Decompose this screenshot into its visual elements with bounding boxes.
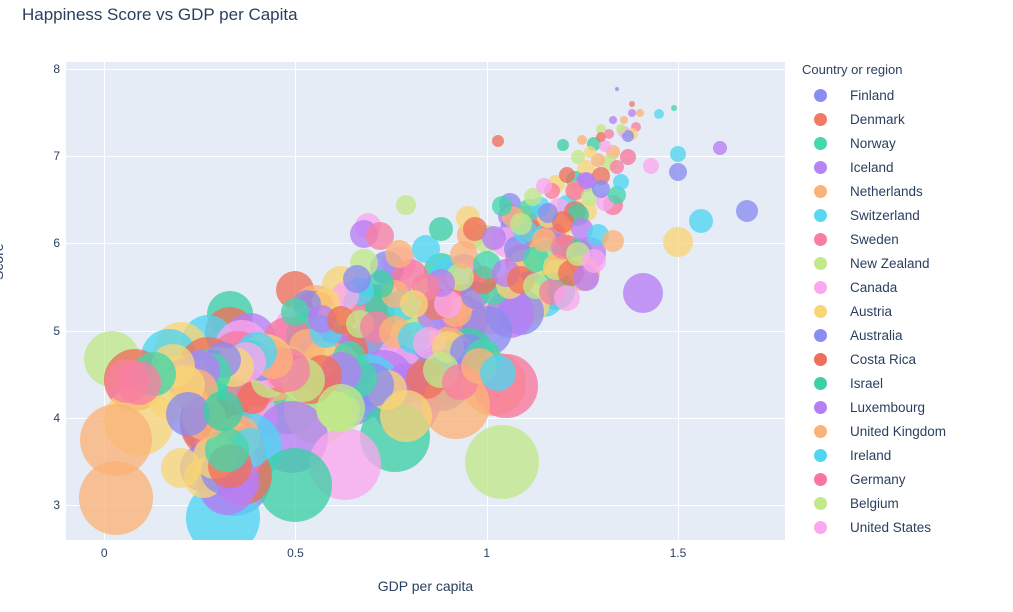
y-tick-label: 6 xyxy=(10,236,60,250)
legend-item-new-zealand[interactable]: New Zealand xyxy=(800,251,1010,275)
legend-swatch-icon xyxy=(814,377,827,390)
legend-item-label: Germany xyxy=(850,472,906,487)
legend-swatch-icon xyxy=(814,209,827,222)
scatter-point[interactable] xyxy=(689,209,713,233)
legend-item-label: United Kingdom xyxy=(850,424,946,439)
legend-item-iceland[interactable]: Iceland xyxy=(800,155,1010,179)
legend-item-luxembourg[interactable]: Luxembourg xyxy=(800,395,1010,419)
scatter-point[interactable] xyxy=(538,203,558,223)
legend-item-finland[interactable]: Finland xyxy=(800,83,1010,107)
y-tick-label: 5 xyxy=(10,324,60,338)
legend-swatch-icon xyxy=(814,233,827,246)
scatter-point[interactable] xyxy=(429,217,453,241)
legend-item-israel[interactable]: Israel xyxy=(800,371,1010,395)
legend-item-label: New Zealand xyxy=(850,256,930,271)
legend-item-switzerland[interactable]: Switzerland xyxy=(800,203,1010,227)
legend-item-united-kingdom[interactable]: United Kingdom xyxy=(800,419,1010,443)
scatter-point[interactable] xyxy=(79,461,153,535)
scatter-point[interactable] xyxy=(629,101,635,107)
legend-item-label: Ireland xyxy=(850,448,891,463)
scatter-point[interactable] xyxy=(654,109,664,119)
scatter-point[interactable] xyxy=(380,390,432,442)
scatter-point[interactable] xyxy=(536,178,552,194)
scatter-point[interactable] xyxy=(609,116,617,124)
scatter-point[interactable] xyxy=(584,146,596,158)
y-tick-label: 4 xyxy=(10,411,60,425)
scatter-point[interactable] xyxy=(554,285,580,311)
scatter-point[interactable] xyxy=(492,135,504,147)
x-axis-title: GDP per capita xyxy=(66,578,785,594)
scatter-point[interactable] xyxy=(480,355,516,391)
y-tick-label: 7 xyxy=(10,149,60,163)
legend-item-label: Netherlands xyxy=(850,184,923,199)
legend-item-label: Iceland xyxy=(850,160,894,175)
plot-area[interactable] xyxy=(66,62,785,540)
scatter-point[interactable] xyxy=(604,129,614,139)
legend-item-label: Canada xyxy=(850,280,897,295)
scatter-point[interactable] xyxy=(577,135,587,145)
legend-item-belgium[interactable]: Belgium xyxy=(800,491,1010,515)
legend-swatch-icon xyxy=(814,425,827,438)
scatter-point[interactable] xyxy=(343,265,371,293)
gridline-vertical xyxy=(678,62,679,540)
scatter-point[interactable] xyxy=(623,273,663,313)
legend-swatch-icon xyxy=(814,113,827,126)
legend-item-label: Israel xyxy=(850,376,883,391)
scatter-point[interactable] xyxy=(105,359,149,403)
chart-root: Happiness Score vs GDP per Capita 345678… xyxy=(0,0,1013,612)
scatter-point[interactable] xyxy=(713,141,727,155)
legend-item-label: Costa Rica xyxy=(850,352,916,367)
legend[interactable]: Country or region FinlandDenmarkNorwayIc… xyxy=(800,62,1010,539)
scatter-point[interactable] xyxy=(465,425,539,499)
scatter-point[interactable] xyxy=(400,290,428,318)
legend-swatch-icon xyxy=(814,305,827,318)
legend-swatch-icon xyxy=(814,89,827,102)
legend-swatch-icon xyxy=(814,137,827,150)
legend-swatch-icon xyxy=(814,497,827,510)
scatter-point[interactable] xyxy=(620,116,628,124)
x-tick-label: 0 xyxy=(74,546,134,560)
scatter-point[interactable] xyxy=(636,109,644,117)
legend-swatch-icon xyxy=(814,353,827,366)
legend-item-label: Austria xyxy=(850,304,892,319)
page-title: Happiness Score vs GDP per Capita xyxy=(22,5,298,25)
scatter-point[interactable] xyxy=(643,158,659,174)
x-tick-label: 1 xyxy=(457,546,517,560)
x-axis-ticks: 00.511.5 xyxy=(66,546,785,566)
legend-item-label: Norway xyxy=(850,136,896,151)
scatter-point[interactable] xyxy=(396,195,416,215)
scatter-point[interactable] xyxy=(559,167,575,183)
scatter-point[interactable] xyxy=(602,230,624,252)
scatter-point[interactable] xyxy=(281,298,309,326)
legend-swatch-icon xyxy=(814,329,827,342)
scatter-point[interactable] xyxy=(663,227,693,257)
legend-swatch-icon xyxy=(814,281,827,294)
scatter-point[interactable] xyxy=(736,200,758,222)
scatter-point[interactable] xyxy=(203,391,243,431)
legend-item-germany[interactable]: Germany xyxy=(800,467,1010,491)
legend-item-norway[interactable]: Norway xyxy=(800,131,1010,155)
scatter-point[interactable] xyxy=(557,139,569,151)
legend-swatch-icon xyxy=(814,401,827,414)
legend-item-canada[interactable]: Canada xyxy=(800,275,1010,299)
scatter-point[interactable] xyxy=(582,249,606,273)
y-axis-title: Score xyxy=(0,243,6,280)
legend-item-austria[interactable]: Austria xyxy=(800,299,1010,323)
scatter-point[interactable] xyxy=(510,213,532,235)
scatter-point[interactable] xyxy=(671,105,677,111)
y-tick-label: 8 xyxy=(10,62,60,76)
scatter-point[interactable] xyxy=(317,384,365,432)
legend-swatch-icon xyxy=(814,257,827,270)
legend-item-costa-rica[interactable]: Costa Rica xyxy=(800,347,1010,371)
scatter-point[interactable] xyxy=(385,240,413,268)
legend-item-denmark[interactable]: Denmark xyxy=(800,107,1010,131)
legend-item-label: Belgium xyxy=(850,496,899,511)
legend-swatch-icon xyxy=(814,473,827,486)
x-tick-label: 1.5 xyxy=(648,546,708,560)
legend-item-australia[interactable]: Australia xyxy=(800,323,1010,347)
scatter-point[interactable] xyxy=(482,226,506,250)
legend-item-label: Sweden xyxy=(850,232,899,247)
scatter-point[interactable] xyxy=(161,448,201,488)
legend-item-united-states[interactable]: United States xyxy=(800,515,1010,539)
scatter-point[interactable] xyxy=(610,160,624,174)
scatter-point[interactable] xyxy=(613,174,629,190)
scatter-point[interactable] xyxy=(492,196,512,216)
y-axis-ticks: 345678 xyxy=(0,62,60,540)
legend-item-label: Luxembourg xyxy=(850,400,925,415)
x-tick-label: 0.5 xyxy=(265,546,325,560)
y-tick-label: 3 xyxy=(10,498,60,512)
legend-item-label: United States xyxy=(850,520,931,535)
legend-swatch-icon xyxy=(814,161,827,174)
scatter-point[interactable] xyxy=(670,146,686,162)
legend-items[interactable]: FinlandDenmarkNorwayIcelandNetherlandsSw… xyxy=(800,83,1010,539)
legend-swatch-icon xyxy=(814,521,827,534)
legend-item-label: Finland xyxy=(850,88,894,103)
legend-title: Country or region xyxy=(802,62,1010,77)
scatter-point[interactable] xyxy=(616,124,626,134)
legend-item-label: Australia xyxy=(850,328,903,343)
legend-item-sweden[interactable]: Sweden xyxy=(800,227,1010,251)
scatter-point[interactable] xyxy=(615,87,619,91)
legend-swatch-icon xyxy=(814,185,827,198)
scatter-point[interactable] xyxy=(669,163,687,181)
legend-item-ireland[interactable]: Ireland xyxy=(800,443,1010,467)
legend-swatch-icon xyxy=(814,449,827,462)
scatter-point[interactable] xyxy=(578,173,594,189)
legend-item-label: Switzerland xyxy=(850,208,920,223)
legend-item-label: Denmark xyxy=(850,112,905,127)
legend-item-netherlands[interactable]: Netherlands xyxy=(800,179,1010,203)
